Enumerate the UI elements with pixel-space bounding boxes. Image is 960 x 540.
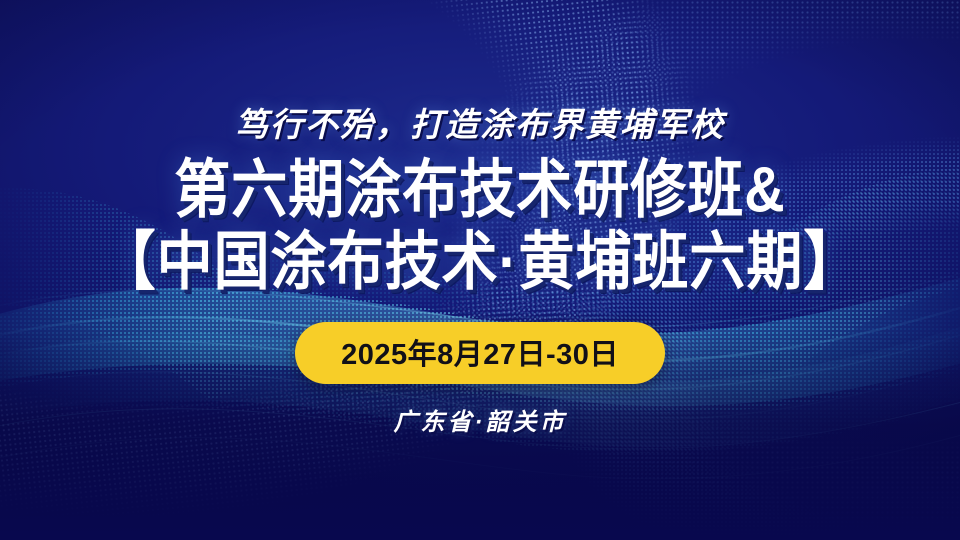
tagline: 笃行不殆，打造涂布界黄埔军校 xyxy=(235,98,725,146)
poster-content: 笃行不殆，打造涂布界黄埔军校 第六期涂布技术研修班& 【中国涂布技术·黄埔班六期… xyxy=(0,0,960,540)
date-badge: 2025年8月27日-30日 xyxy=(295,322,665,384)
title-block: 第六期涂布技术研修班& 【中国涂布技术·黄埔班六期】 xyxy=(100,158,861,286)
main-title-line-1: 第六期涂布技术研修班& xyxy=(174,158,785,222)
promotional-banner: 笃行不殆，打造涂布界黄埔军校 第六期涂布技术研修班& 【中国涂布技术·黄埔班六期… xyxy=(0,0,960,540)
location-text: 广东省·韶关市 xyxy=(394,402,567,437)
main-title-line-2: 【中国涂布技术·黄埔班六期】 xyxy=(100,230,861,294)
